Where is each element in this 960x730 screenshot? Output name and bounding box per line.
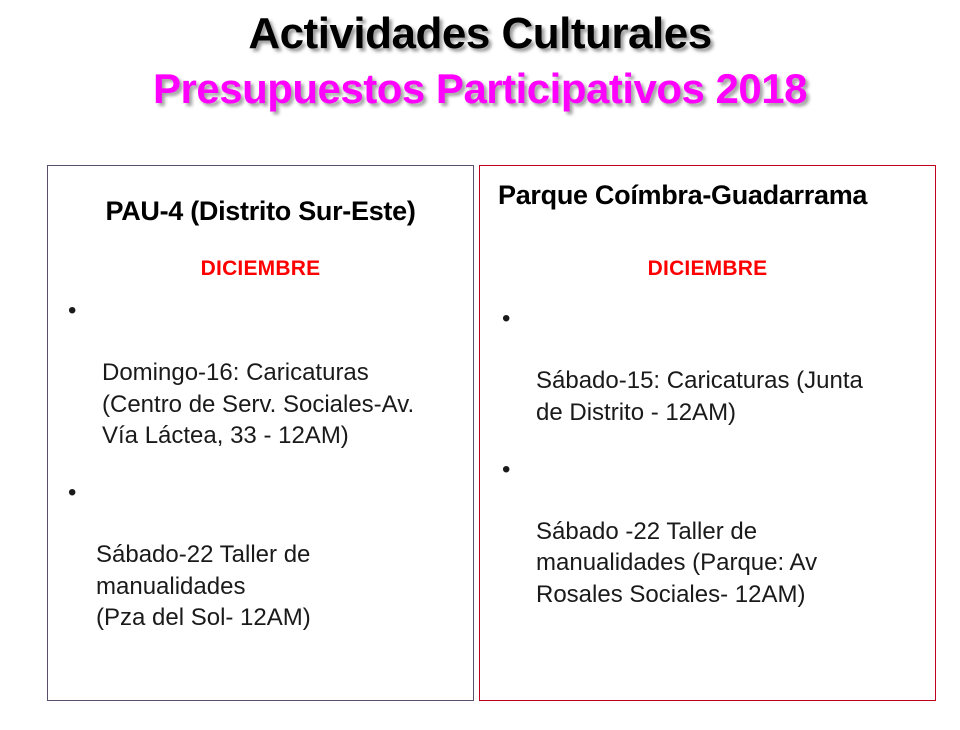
list-item: • Sábado-15: Caricaturas (Junta de Distr… (496, 303, 925, 428)
panels-container: PAU-4 (Distrito Sur-Este) DICIEMBRE • Do… (0, 165, 960, 705)
list-item: • Sábado -22 Taller de manualidades (Par… (496, 454, 925, 610)
list-item-text: Sábado-22 Taller de manualidades (Pza de… (96, 541, 311, 630)
list-item-text: Domingo-16: Caricaturas (Centro de Serv.… (102, 359, 414, 448)
bullet-dot-icon: • (68, 477, 76, 508)
panel-pau-4-heading: PAU-4 (Distrito Sur-Este) (58, 196, 463, 227)
page-subtitle: Presupuestos Participativos 2018 (0, 60, 960, 114)
panel-parque-coimbra-month-label: DICIEMBRE (490, 257, 925, 281)
bullet-dot-icon: • (502, 454, 510, 485)
panel-parque-coimbra-bullet-list: • Sábado-15: Caricaturas (Junta de Distr… (490, 303, 925, 610)
list-item: • Domingo-16: Caricaturas (Centro de Ser… (60, 295, 463, 451)
list-item-text: Sábado -22 Taller de manualidades (Parqu… (536, 518, 817, 607)
panel-pau-4: PAU-4 (Distrito Sur-Este) DICIEMBRE • Do… (47, 165, 474, 701)
bullet-dot-icon: • (68, 295, 76, 326)
page-title: Actividades Culturales (0, 8, 960, 60)
panel-pau-4-month-label: DICIEMBRE (58, 257, 463, 281)
list-item: • Sábado-22 Taller de manualidades (Pza … (60, 477, 463, 633)
panel-parque-coimbra: Parque Coímbra-Guadarrama DICIEMBRE • Sá… (479, 165, 936, 701)
panel-pau-4-bullet-list: • Domingo-16: Caricaturas (Centro de Ser… (58, 295, 463, 633)
list-item-text: Sábado-15: Caricaturas (Junta de Distrit… (536, 367, 863, 425)
panel-parque-coimbra-content: Parque Coímbra-Guadarrama DICIEMBRE • Sá… (480, 180, 935, 714)
bullet-dot-icon: • (502, 303, 510, 334)
panel-pau-4-content: PAU-4 (Distrito Sur-Este) DICIEMBRE • Do… (48, 196, 473, 730)
slide-title-block: Actividades Culturales Presupuestos Part… (0, 0, 960, 113)
panel-parque-coimbra-heading: Parque Coímbra-Guadarrama (490, 180, 925, 211)
